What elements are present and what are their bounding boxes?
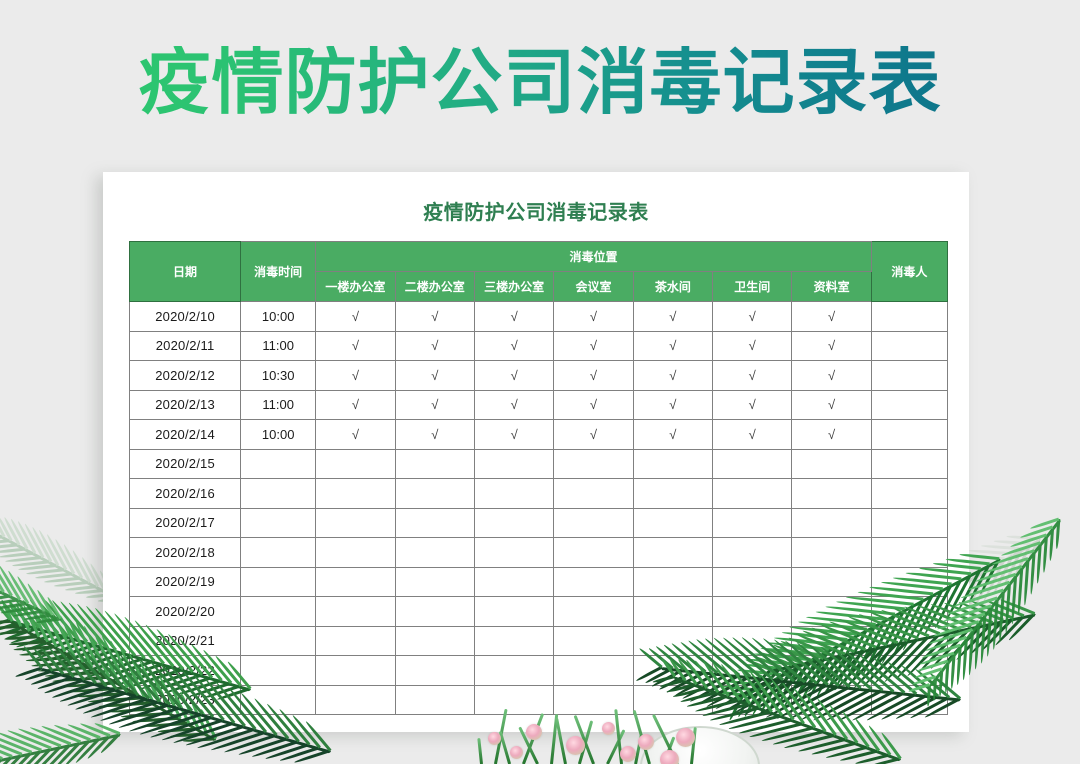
cell-location-2[interactable]: √ <box>395 361 474 391</box>
cell-location-4[interactable] <box>554 538 633 568</box>
orchid-bloom <box>566 736 585 755</box>
cell-person[interactable] <box>871 508 947 538</box>
cell-date[interactable]: 2020/2/18 <box>130 538 241 568</box>
cell-location-3[interactable] <box>474 685 553 715</box>
cell-location-1[interactable] <box>316 479 395 509</box>
cell-location-3[interactable]: √ <box>474 302 553 332</box>
cell-location-3[interactable] <box>474 449 553 479</box>
cell-location-1[interactable]: √ <box>316 302 395 332</box>
cell-location-7[interactable]: √ <box>792 361 871 391</box>
grass-blade <box>634 734 643 764</box>
cell-time[interactable] <box>241 597 316 627</box>
cell-location-1[interactable] <box>316 656 395 686</box>
cell-location-7[interactable] <box>792 479 871 509</box>
cell-location-6[interactable] <box>713 626 792 656</box>
cell-location-2[interactable] <box>395 597 474 627</box>
cell-location-7[interactable] <box>792 508 871 538</box>
orchid-bloom <box>488 732 501 745</box>
cell-location-4[interactable]: √ <box>554 361 633 391</box>
record-table-container: 日期 消毒时间 消毒位置 消毒人 一楼办公室二楼办公室三楼办公室会议室茶水间卫生… <box>129 241 948 715</box>
cell-person[interactable] <box>871 538 947 568</box>
cell-location-1[interactable] <box>316 449 395 479</box>
cell-location-5[interactable]: √ <box>633 420 712 450</box>
cell-time[interactable]: 10:00 <box>241 302 316 332</box>
table-header-row-top: 日期 消毒时间 消毒位置 消毒人 <box>130 242 948 272</box>
cell-location-4[interactable] <box>554 479 633 509</box>
disinfection-record-table: 日期 消毒时间 消毒位置 消毒人 一楼办公室二楼办公室三楼办公室会议室茶水间卫生… <box>129 241 948 715</box>
cell-location-1[interactable]: √ <box>316 331 395 361</box>
cell-location-1[interactable] <box>316 626 395 656</box>
cell-time[interactable] <box>241 685 316 715</box>
cell-location-7[interactable] <box>792 685 871 715</box>
cell-location-5[interactable] <box>633 685 712 715</box>
cell-location-6[interactable] <box>713 479 792 509</box>
cell-location-5[interactable]: √ <box>633 361 712 391</box>
cell-location-1[interactable] <box>316 538 395 568</box>
cell-time[interactable]: 11:00 <box>241 390 316 420</box>
cell-location-4[interactable] <box>554 626 633 656</box>
cell-location-2[interactable] <box>395 685 474 715</box>
palm-frond <box>0 735 120 764</box>
cell-location-6[interactable]: √ <box>713 420 792 450</box>
grass-blade <box>606 729 625 764</box>
cell-location-3[interactable] <box>474 538 553 568</box>
cell-date[interactable]: 2020/2/13 <box>130 390 241 420</box>
cell-location-2[interactable] <box>395 656 474 686</box>
table-header: 日期 消毒时间 消毒位置 消毒人 一楼办公室二楼办公室三楼办公室会议室茶水间卫生… <box>130 242 948 302</box>
cell-location-2[interactable]: √ <box>395 331 474 361</box>
cell-date[interactable]: 2020/2/16 <box>130 479 241 509</box>
cell-location-4[interactable] <box>554 685 633 715</box>
cell-location-2[interactable]: √ <box>395 420 474 450</box>
table-row: 2020/2/1111:00√√√√√√√ <box>130 331 948 361</box>
cell-location-7[interactable] <box>792 597 871 627</box>
cell-location-1[interactable] <box>316 567 395 597</box>
cell-location-5[interactable]: √ <box>633 302 712 332</box>
cell-time[interactable] <box>241 656 316 686</box>
cell-location-5[interactable]: √ <box>633 390 712 420</box>
cell-person[interactable] <box>871 567 947 597</box>
header-location-2: 二楼办公室 <box>395 272 474 302</box>
orchid-bloom <box>620 746 636 762</box>
table-row: 2020/2/16 <box>130 479 948 509</box>
header-date: 日期 <box>130 242 241 302</box>
cell-location-6[interactable] <box>713 685 792 715</box>
palm-frond <box>0 548 60 620</box>
table-row: 2020/2/17 <box>130 508 948 538</box>
cell-location-5[interactable] <box>633 508 712 538</box>
cell-location-1[interactable] <box>316 685 395 715</box>
cell-person[interactable] <box>871 685 947 715</box>
table-row: 2020/2/22 <box>130 656 948 686</box>
cell-location-7[interactable] <box>792 449 871 479</box>
cell-location-1[interactable]: √ <box>316 420 395 450</box>
cell-date[interactable]: 2020/2/23 <box>130 685 241 715</box>
cell-location-1[interactable]: √ <box>316 390 395 420</box>
cell-location-4[interactable] <box>554 508 633 538</box>
cell-location-2[interactable] <box>395 449 474 479</box>
grass-blade <box>662 736 675 764</box>
cell-location-4[interactable]: √ <box>554 302 633 332</box>
grass-blade <box>518 727 539 764</box>
cell-location-7[interactable] <box>792 626 871 656</box>
header-person: 消毒人 <box>871 242 947 302</box>
cell-person[interactable] <box>871 390 947 420</box>
orchid-bloom <box>510 746 523 759</box>
table-row: 2020/2/1311:00√√√√√√√ <box>130 390 948 420</box>
cell-date[interactable]: 2020/2/12 <box>130 361 241 391</box>
header-location-1: 一楼办公室 <box>316 272 395 302</box>
table-row: 2020/2/19 <box>130 567 948 597</box>
cell-location-3[interactable] <box>474 626 553 656</box>
cell-date[interactable]: 2020/2/19 <box>130 567 241 597</box>
cell-location-6[interactable]: √ <box>713 361 792 391</box>
cell-location-6[interactable] <box>713 567 792 597</box>
cell-location-5[interactable] <box>633 656 712 686</box>
cell-date[interactable]: 2020/2/14 <box>130 420 241 450</box>
cell-location-6[interactable] <box>713 508 792 538</box>
cell-location-1[interactable] <box>316 597 395 627</box>
cell-date[interactable]: 2020/2/20 <box>130 597 241 627</box>
cell-location-6[interactable]: √ <box>713 302 792 332</box>
cell-location-6[interactable] <box>713 449 792 479</box>
cell-time[interactable] <box>241 538 316 568</box>
cell-location-1[interactable]: √ <box>316 361 395 391</box>
orchid-bloom <box>638 734 654 750</box>
cell-location-5[interactable] <box>633 597 712 627</box>
cell-time[interactable] <box>241 479 316 509</box>
cell-location-3[interactable] <box>474 508 553 538</box>
grass-blade <box>499 731 511 764</box>
cell-location-7[interactable] <box>792 656 871 686</box>
cell-person[interactable] <box>871 331 947 361</box>
cell-location-7[interactable] <box>792 538 871 568</box>
cell-location-3[interactable] <box>474 479 553 509</box>
cell-person[interactable] <box>871 479 947 509</box>
cell-location-6[interactable] <box>713 656 792 686</box>
cell-date[interactable]: 2020/2/15 <box>130 449 241 479</box>
cell-location-2[interactable] <box>395 508 474 538</box>
cell-location-6[interactable] <box>713 597 792 627</box>
cell-time[interactable]: 10:30 <box>241 361 316 391</box>
cell-location-3[interactable] <box>474 597 553 627</box>
header-location-4: 会议室 <box>554 272 633 302</box>
cell-location-2[interactable] <box>395 538 474 568</box>
table-row: 2020/2/18 <box>130 538 948 568</box>
cell-location-2[interactable] <box>395 479 474 509</box>
header-location-3: 三楼办公室 <box>474 272 553 302</box>
header-location-5: 茶水间 <box>633 272 712 302</box>
cell-location-5[interactable] <box>633 449 712 479</box>
cell-location-3[interactable] <box>474 567 553 597</box>
cell-location-3[interactable]: √ <box>474 420 553 450</box>
table-body: 2020/2/1010:00√√√√√√√2020/2/1111:00√√√√√… <box>130 302 948 715</box>
cell-location-3[interactable]: √ <box>474 331 553 361</box>
cell-time[interactable] <box>241 567 316 597</box>
table-row: 2020/2/23 <box>130 685 948 715</box>
table-row: 2020/2/21 <box>130 626 948 656</box>
cell-date[interactable]: 2020/2/22 <box>130 656 241 686</box>
cell-person[interactable] <box>871 420 947 450</box>
cell-location-4[interactable] <box>554 449 633 479</box>
grass-blade <box>690 727 697 764</box>
cell-location-4[interactable]: √ <box>554 331 633 361</box>
cell-location-6[interactable]: √ <box>713 390 792 420</box>
table-row: 2020/2/15 <box>130 449 948 479</box>
cell-location-4[interactable] <box>554 656 633 686</box>
cell-location-5[interactable]: √ <box>633 331 712 361</box>
cell-location-4[interactable] <box>554 597 633 627</box>
cell-time[interactable]: 10:00 <box>241 420 316 450</box>
table-row: 2020/2/20 <box>130 597 948 627</box>
cell-location-4[interactable]: √ <box>554 420 633 450</box>
cell-location-5[interactable] <box>633 567 712 597</box>
table-row: 2020/2/1210:30√√√√√√√ <box>130 361 948 391</box>
table-row: 2020/2/1410:00√√√√√√√ <box>130 420 948 450</box>
cell-location-6[interactable] <box>713 538 792 568</box>
cell-location-7[interactable]: √ <box>792 390 871 420</box>
cell-time[interactable] <box>241 626 316 656</box>
cell-time[interactable] <box>241 449 316 479</box>
cell-location-2[interactable]: √ <box>395 390 474 420</box>
cell-location-5[interactable] <box>633 479 712 509</box>
table-row: 2020/2/1010:00√√√√√√√ <box>130 302 948 332</box>
page-title: 疫情防护公司消毒记录表 <box>0 46 1080 122</box>
header-location-7: 资料室 <box>792 272 871 302</box>
cell-location-3[interactable]: √ <box>474 390 553 420</box>
cell-person[interactable] <box>871 656 947 686</box>
header-location-group: 消毒位置 <box>316 242 872 272</box>
cell-location-6[interactable]: √ <box>713 331 792 361</box>
cell-location-5[interactable] <box>633 538 712 568</box>
cell-person[interactable] <box>871 597 947 627</box>
document-sheet: 疫情防护公司消毒记录表 日期 消毒时间 消毒位置 消毒人 一楼办公室二楼办公室三… <box>103 172 969 732</box>
cell-date[interactable]: 2020/2/11 <box>130 331 241 361</box>
orchid-bloom <box>660 750 679 764</box>
header-time: 消毒时间 <box>241 242 316 302</box>
cell-location-2[interactable]: √ <box>395 302 474 332</box>
cell-date[interactable]: 2020/2/21 <box>130 626 241 656</box>
cell-location-1[interactable] <box>316 508 395 538</box>
cell-date[interactable]: 2020/2/17 <box>130 508 241 538</box>
cell-date[interactable]: 2020/2/10 <box>130 302 241 332</box>
cell-location-3[interactable] <box>474 656 553 686</box>
cell-location-5[interactable] <box>633 626 712 656</box>
cell-location-4[interactable]: √ <box>554 390 633 420</box>
cell-time[interactable]: 11:00 <box>241 331 316 361</box>
grass-blade <box>477 738 483 764</box>
cell-location-7[interactable] <box>792 567 871 597</box>
cell-location-3[interactable]: √ <box>474 361 553 391</box>
cell-location-7[interactable]: √ <box>792 302 871 332</box>
sheet-title: 疫情防护公司消毒记录表 <box>103 196 969 225</box>
cell-person[interactable] <box>871 361 947 391</box>
cell-location-2[interactable] <box>395 626 474 656</box>
header-location-6: 卫生间 <box>713 272 792 302</box>
cell-location-7[interactable]: √ <box>792 420 871 450</box>
cell-location-4[interactable] <box>554 567 633 597</box>
cell-person[interactable] <box>871 626 947 656</box>
cell-person[interactable] <box>871 302 947 332</box>
cell-location-2[interactable] <box>395 567 474 597</box>
cell-location-7[interactable]: √ <box>792 331 871 361</box>
palm-frond <box>0 530 120 600</box>
cell-time[interactable] <box>241 508 316 538</box>
cell-person[interactable] <box>871 449 947 479</box>
